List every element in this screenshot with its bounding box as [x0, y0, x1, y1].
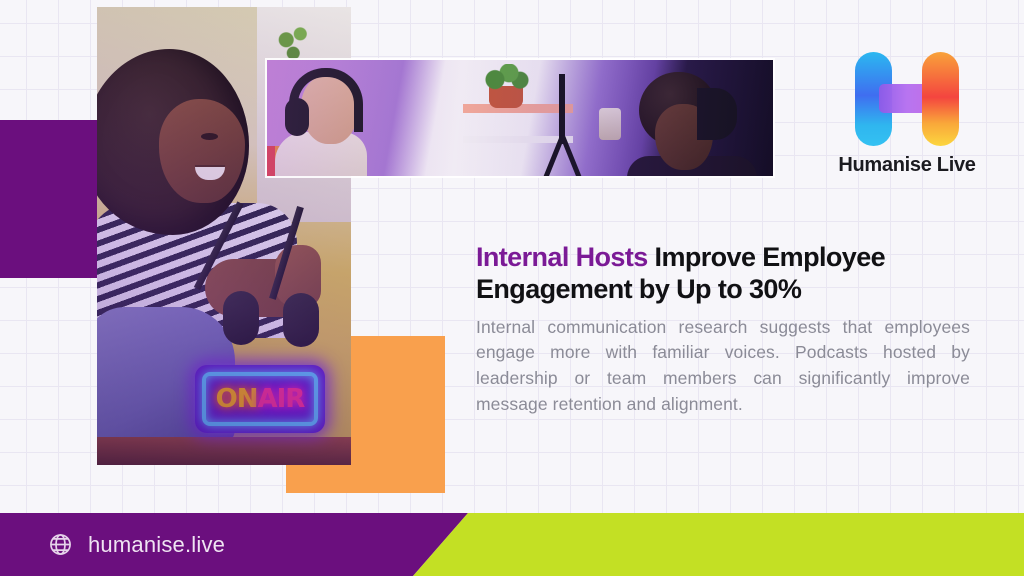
logo-right-bar: [922, 52, 959, 146]
globe-icon: [48, 532, 73, 557]
headline-accent: Internal Hosts: [476, 242, 648, 272]
page-title: Internal Hosts Improve Employee Engageme…: [476, 242, 970, 306]
footer-bar: humanise.live: [0, 513, 1024, 576]
humanise-h-logo-icon: [855, 52, 959, 146]
brand-logo: Humanise Live: [826, 52, 988, 177]
band-color-grade: [267, 60, 773, 176]
decorative-purple-block: [0, 120, 97, 278]
body-paragraph: Internal communication research suggests…: [476, 315, 970, 418]
brand-name: Humanise Live: [826, 154, 988, 177]
footer-content: humanise.live: [48, 513, 225, 576]
footer-url[interactable]: humanise.live: [88, 532, 225, 558]
slide-canvas: ONAIR: [0, 0, 1024, 576]
copy-block: Internal Hosts Improve Employee Engageme…: [476, 242, 970, 418]
studio-band-photo: [267, 60, 773, 176]
